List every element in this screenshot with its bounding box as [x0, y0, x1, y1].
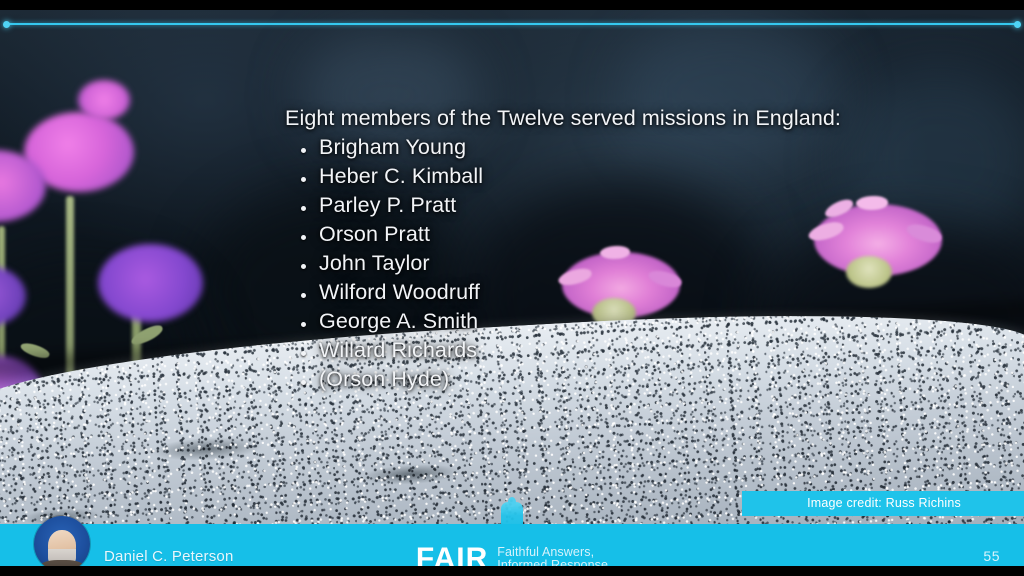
flower-bloom — [98, 244, 203, 322]
flower-bloom — [78, 80, 130, 120]
slide-text-block: Eight members of the Twelve served missi… — [285, 108, 841, 398]
flower-calyx — [846, 256, 892, 288]
slide-bullet-list: Brigham Young Heber C. Kimball Parley P.… — [285, 137, 841, 391]
fair-tagline-line1: Faithful Answers, — [497, 545, 594, 559]
list-item: Orson Pratt — [285, 224, 841, 246]
list-item: (Orson Hyde) — [285, 369, 841, 391]
slide-progress-bar[interactable] — [6, 23, 1018, 25]
image-credit-banner: Image credit: Russ Richins — [742, 491, 1024, 516]
list-item: Parley P. Pratt — [285, 195, 841, 217]
list-item: Willard Richards — [285, 340, 841, 362]
slide-number: 55 — [983, 548, 1000, 564]
progress-start-dot-icon — [3, 21, 10, 28]
list-item: Brigham Young — [285, 137, 841, 159]
presenter-avatar-icon — [34, 516, 90, 572]
list-item: John Taylor — [285, 253, 841, 275]
presenter-name: Daniel C. Peterson — [104, 548, 234, 565]
list-item: Heber C. Kimball — [285, 166, 841, 188]
flower-bloom — [0, 266, 26, 326]
slide-stage: Eight members of the Twelve served missi… — [0, 0, 1024, 576]
flower-leaf — [19, 340, 51, 361]
list-item: Wilford Woodruff — [285, 282, 841, 304]
letterbox-bottom — [0, 566, 1024, 576]
progress-end-dot-icon — [1014, 21, 1021, 28]
list-item: George A. Smith — [285, 311, 841, 333]
letterbox-top — [0, 0, 1024, 10]
slide-lead-text: Eight members of the Twelve served missi… — [285, 108, 841, 130]
